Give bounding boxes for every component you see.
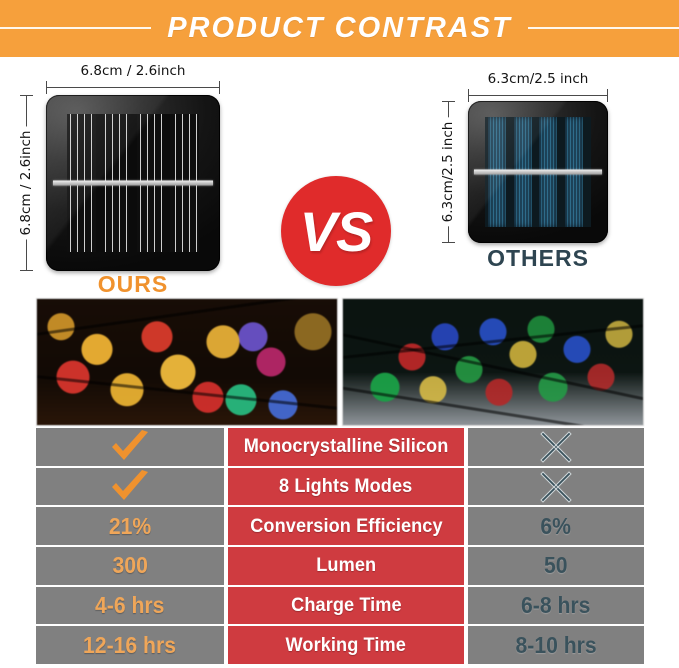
- others-lights-photo: [342, 298, 644, 426]
- others-height-label: 6.3cm/2.5 inch: [440, 118, 456, 227]
- vs-label: VS: [300, 199, 373, 264]
- feature-name-cell: Working Time: [228, 626, 464, 664]
- ours-solar-panel-image: [46, 95, 220, 271]
- feature-label: Lumen: [316, 554, 376, 577]
- feature-label: 8 Lights Modes: [279, 475, 412, 498]
- ours-busbar: [53, 181, 213, 186]
- others-busbar: [474, 170, 603, 175]
- table-row: 300 Lumen 50: [36, 547, 644, 587]
- feature-label: Conversion Efficiency: [250, 515, 442, 538]
- feature-label: Working Time: [286, 634, 406, 657]
- others-height-dimension: 6.3cm/2.5 inch: [442, 101, 454, 243]
- product-contrast-infographic: PRODUCT CONTRAST 6.8cm / 2.6inch 6.8cm /…: [0, 0, 679, 668]
- ours-height-dimension: 6.8cm / 2.6inch: [20, 95, 32, 271]
- ours-value: 300: [112, 552, 147, 579]
- ours-value: 21%: [109, 513, 151, 540]
- others-label: OTHERS: [442, 245, 634, 272]
- ours-label: OURS: [46, 271, 220, 298]
- others-width-dimension: 6.3cm/2.5 inch: [468, 85, 608, 97]
- others-solar-panel-image: [468, 101, 608, 243]
- feature-name-cell: Charge Time: [228, 587, 464, 625]
- theirs-value-cell: 50: [468, 547, 644, 585]
- table-row: Monocrystalline Silicon: [36, 428, 644, 468]
- others-panel-group: 6.3cm/2.5 inch 6.3cm/2.5 inch OTHERS: [432, 79, 652, 291]
- ours-width-dimension: 6.8cm / 2.6inch: [46, 77, 220, 89]
- cross-icon: [538, 469, 574, 505]
- header-banner: PRODUCT CONTRAST: [0, 0, 679, 57]
- theirs-value-cell: [468, 428, 644, 466]
- check-icon: [108, 429, 152, 465]
- ours-value: 12-16 hrs: [84, 632, 177, 659]
- theirs-value: 6%: [541, 513, 572, 540]
- feature-name-cell: Lumen: [228, 547, 464, 585]
- ours-panel-group: 6.8cm / 2.6inch 6.8cm / 2.6inch OURS: [14, 71, 244, 293]
- ours-value-cell: 300: [36, 547, 224, 585]
- table-row: 4-6 hrs Charge Time 6-8 hrs: [36, 587, 644, 627]
- feature-label: Charge Time: [291, 594, 402, 617]
- comparison-table: Monocrystalline Silicon 8 Lights Modes: [36, 428, 644, 664]
- table-row: 21% Conversion Efficiency 6%: [36, 507, 644, 547]
- table-row: 8 Lights Modes: [36, 468, 644, 508]
- ours-value-cell: [36, 468, 224, 506]
- cross-icon: [538, 429, 574, 465]
- panel-comparison-section: 6.8cm / 2.6inch 6.8cm / 2.6inch OURS VS: [0, 57, 679, 293]
- theirs-value-cell: 6-8 hrs: [468, 587, 644, 625]
- ours-value-cell: 12-16 hrs: [36, 626, 224, 664]
- feature-name-cell: Monocrystalline Silicon: [228, 428, 464, 466]
- ours-value: 4-6 hrs: [95, 592, 164, 619]
- ours-width-label: 6.8cm / 2.6inch: [77, 63, 190, 79]
- ours-value-cell: [36, 428, 224, 466]
- ours-lights-photo: [36, 298, 338, 426]
- ours-value-cell: 21%: [36, 507, 224, 545]
- theirs-value-cell: 6%: [468, 507, 644, 545]
- others-width-label: 6.3cm/2.5 inch: [484, 71, 593, 87]
- theirs-value-cell: 8-10 hrs: [468, 626, 644, 664]
- theirs-value-cell: [468, 468, 644, 506]
- table-row: 12-16 hrs Working Time 8-10 hrs: [36, 626, 644, 664]
- theirs-value: 8-10 hrs: [515, 632, 596, 659]
- feature-name-cell: 8 Lights Modes: [228, 468, 464, 506]
- feature-label: Monocrystalline Silicon: [244, 435, 449, 458]
- check-icon: [108, 469, 152, 505]
- ours-value-cell: 4-6 hrs: [36, 587, 224, 625]
- page-title: PRODUCT CONTRAST: [151, 12, 528, 45]
- theirs-value: 50: [544, 552, 568, 579]
- vs-badge: VS: [281, 176, 391, 286]
- product-photo-row: [36, 298, 644, 426]
- theirs-value: 6-8 hrs: [521, 592, 590, 619]
- ours-height-label: 6.8cm / 2.6inch: [18, 127, 34, 240]
- feature-name-cell: Conversion Efficiency: [228, 507, 464, 545]
